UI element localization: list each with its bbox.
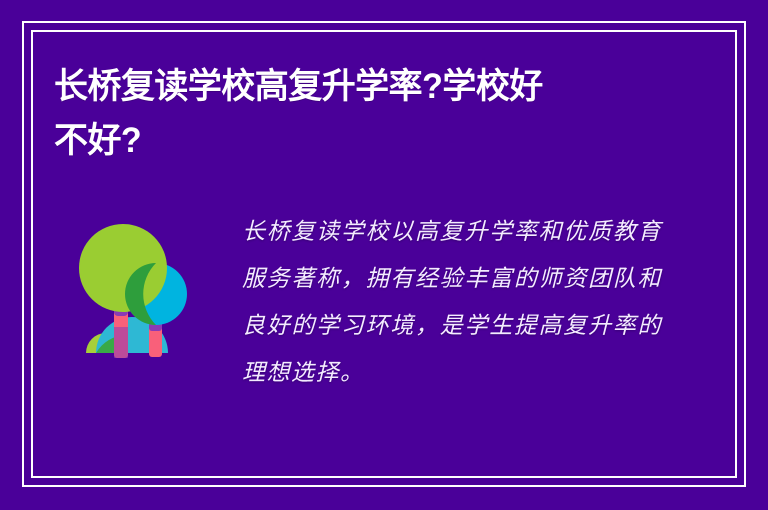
big-tree-trunk-shade — [114, 327, 128, 358]
title-line-2: 不好? — [54, 114, 655, 168]
big-tree-crown — [79, 224, 167, 312]
page-title: 长桥复读学校高复升学率?学校好 不好? — [54, 60, 674, 168]
content-row: 长桥复读学校以高复升学率和优质教育服务著称，拥有经验丰富的师资团队和良好的学习环… — [54, 205, 714, 397]
poster-canvas: 长桥复读学校高复升学率?学校好 不好? 长桥复读学校以高复升学 — [0, 0, 768, 510]
title-line-1: 长桥复读学校高复升学率?学校好 — [54, 60, 655, 114]
body-paragraph: 长桥复读学校以高复升学率和优质教育服务著称，拥有经验丰富的师资团队和良好的学习环… — [242, 209, 662, 397]
trees-and-bushes-illustration — [78, 223, 218, 373]
